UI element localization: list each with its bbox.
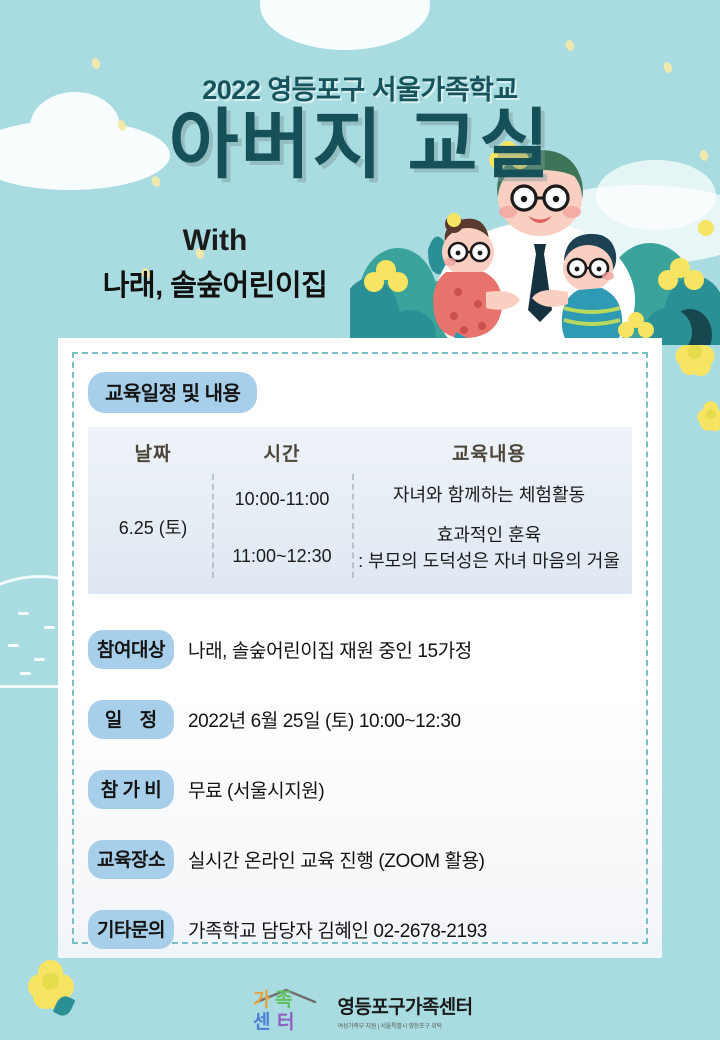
time-slot-1: 10:00-11:00 [235, 489, 330, 510]
info-value-target: 나래, 솔숲어린이집 재원 중인 15가정 [174, 636, 472, 663]
cell-content: 자녀와 함께하는 체험활동 효과적인 훈육 : 부모의 도덕성은 자녀 마음의 … [352, 476, 626, 578]
content-panel: 교육일정 및 내용 날짜 시간 교육내용 6.25 (토) 10:00-11:0… [58, 338, 662, 958]
footer: 가 족 센 터 영등포구가족센터 여성가족부 지원 | 서울특별시 영등포구 위… [0, 988, 720, 1034]
info-value-fee: 무료 (서울시지원) [174, 776, 324, 803]
content-item-1: 자녀와 함께하는 체험활동 [393, 482, 585, 508]
organization-subtitle: 여성가족부 지원 | 서울특별시 영등포구 위탁 [337, 1021, 472, 1030]
svg-text:센: 센 [253, 1011, 270, 1033]
time-slot-2: 11:00~12:30 [232, 546, 331, 567]
poster-title: 아버지 교실 [0, 104, 720, 188]
sparkle-icon [564, 39, 575, 52]
column-header-date: 날짜 [94, 439, 212, 466]
info-value-location: 실시간 온라인 교육 진행 (ZOOM 활용) [174, 846, 485, 873]
info-row-location: 교육장소 실시간 온라인 교육 진행 (ZOOM 활용) [88, 840, 632, 879]
cell-time: 10:00-11:00 11:00~12:30 [212, 476, 352, 578]
info-label-target: 참여대상 [88, 630, 174, 669]
schedule-table: 날짜 시간 교육내용 6.25 (토) 10:00-11:00 11:00~12… [88, 427, 632, 594]
content-item-2-line1: 효과적인 훈육 [358, 522, 620, 548]
family-center-logo-icon: 가 족 센 터 [247, 988, 325, 1034]
poster-root: 2022 영등포구 서울가족학교 아버지 교실 With 나래, 솔숲어린이집 [0, 0, 720, 1040]
poster-eyebrow: 2022 영등포구 서울가족학교 [0, 68, 720, 107]
cell-date: 6.25 (토) [94, 476, 212, 578]
flower-icon [697, 401, 720, 429]
info-label-contact: 기타문의 [88, 910, 174, 949]
info-row-target: 참여대상 나래, 솔숲어린이집 재원 중인 15가정 [88, 630, 632, 669]
fleck-decoration [34, 658, 45, 661]
fleck-decoration [8, 644, 19, 647]
info-row-contact: 기타문의 가족학교 담당자 김혜인 02-2678-2193 [88, 910, 632, 949]
svg-text:족: 족 [275, 989, 292, 1011]
content-item-2-line2: : 부모의 도덕성은 자녀 마음의 거울 [358, 548, 620, 574]
svg-text:가: 가 [253, 989, 271, 1011]
info-label-fee: 참 가 비 [88, 770, 174, 809]
info-label-schedule: 일 정 [88, 700, 174, 739]
fleck-decoration [18, 612, 29, 615]
with-label: With [0, 224, 430, 258]
info-list: 참여대상 나래, 솔숲어린이집 재원 중인 15가정 일 정 2022년 6월 … [88, 630, 632, 949]
cloud-shape-top [260, 0, 430, 50]
schedule-section-title: 교육일정 및 내용 [88, 372, 257, 413]
schedule-table-header: 날짜 시간 교육내용 [94, 439, 626, 476]
info-value-schedule: 2022년 6월 25일 (토) 10:00~12:30 [174, 706, 461, 733]
schedule-table-row: 6.25 (토) 10:00-11:00 11:00~12:30 자녀와 함께하… [94, 476, 626, 578]
info-row-schedule: 일 정 2022년 6월 25일 (토) 10:00~12:30 [88, 700, 632, 739]
info-value-contact: 가족학교 담당자 김혜인 02-2678-2193 [174, 916, 487, 943]
column-header-time: 시간 [212, 439, 352, 466]
column-header-content: 교육내용 [352, 439, 626, 466]
organization-name: 영등포구가족센터 [337, 992, 472, 1019]
content-item-2: 효과적인 훈육 : 부모의 도덕성은 자녀 마음의 거울 [358, 522, 620, 574]
fleck-decoration [44, 626, 55, 629]
svg-text:터: 터 [277, 1011, 294, 1033]
info-label-location: 교육장소 [88, 840, 174, 879]
with-partners: 나래, 솔숲어린이집 [0, 262, 430, 304]
info-row-fee: 참 가 비 무료 (서울시지원) [88, 770, 632, 809]
footer-text-block: 영등포구가족센터 여성가족부 지원 | 서울특별시 영등포구 위탁 [337, 992, 472, 1030]
fleck-decoration [20, 672, 31, 675]
